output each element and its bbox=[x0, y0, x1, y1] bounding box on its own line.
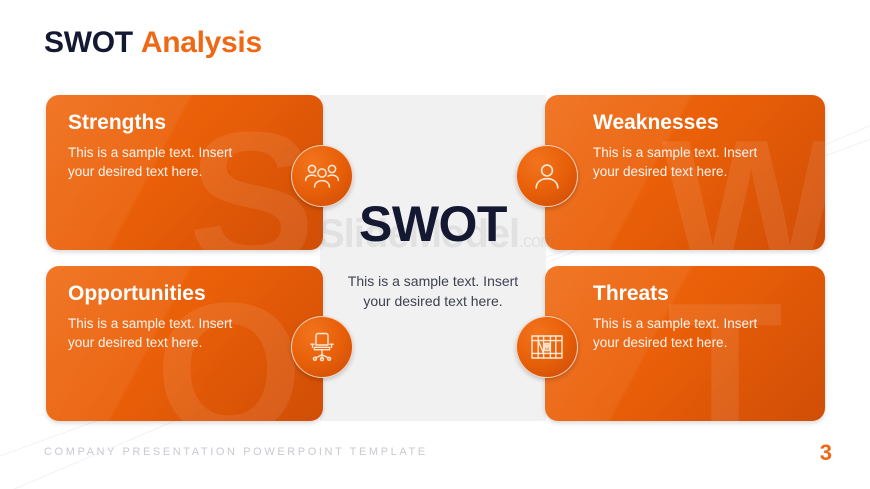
panel-body-weaknesses: This is a sample text. Insert your desir… bbox=[593, 144, 783, 181]
panel-body-strengths: This is a sample text. Insert your desir… bbox=[68, 144, 258, 181]
quadrant-panel-strengths[interactable]: S Strengths This is a sample text. Inser… bbox=[46, 95, 323, 250]
panel-title-opportunities: Opportunities bbox=[68, 282, 258, 306]
office-chair-icon[interactable] bbox=[291, 316, 353, 378]
quadrant-panel-weaknesses[interactable]: W Weaknesses This is a sample text. Inse… bbox=[545, 95, 825, 250]
panel-text-weaknesses: Weaknesses This is a sample text. Insert… bbox=[593, 111, 783, 181]
panel-title-strengths: Strengths bbox=[68, 111, 258, 135]
center-body: This is a sample text. Insert your desir… bbox=[340, 272, 526, 312]
footer-text: COMPANY PRESENTATION POWERPOINT TEMPLATE bbox=[44, 446, 428, 458]
center-heading: SWOT bbox=[320, 199, 546, 249]
quadrant-panel-threats[interactable]: T Threats This is a sample text. Insert … bbox=[545, 266, 825, 421]
panel-text-threats: Threats This is a sample text. Insert yo… bbox=[593, 282, 783, 352]
locked-gate-icon[interactable] bbox=[516, 316, 578, 378]
center-content: SWOT This is a sample text. Insert your … bbox=[320, 95, 546, 421]
panel-title-threats: Threats bbox=[593, 282, 783, 306]
panel-text-strengths: Strengths This is a sample text. Insert … bbox=[68, 111, 258, 181]
single-person-icon[interactable] bbox=[516, 145, 578, 207]
panel-title-weaknesses: Weaknesses bbox=[593, 111, 783, 135]
page-title-secondary: Analysis bbox=[141, 26, 262, 59]
page-title: SWOT Analysis bbox=[44, 26, 262, 60]
panel-body-opportunities: This is a sample text. Insert your desir… bbox=[68, 315, 258, 352]
page-number: 3 bbox=[820, 440, 832, 466]
swot-analysis-slide: SWOT Analysis SlideModel.com S Strengths… bbox=[0, 0, 870, 489]
panel-body-threats: This is a sample text. Insert your desir… bbox=[593, 315, 783, 352]
quadrant-panel-opportunities[interactable]: O Opportunities This is a sample text. I… bbox=[46, 266, 323, 421]
group-people-icon[interactable] bbox=[291, 145, 353, 207]
panel-text-opportunities: Opportunities This is a sample text. Ins… bbox=[68, 282, 258, 352]
page-title-primary: SWOT bbox=[44, 26, 133, 59]
